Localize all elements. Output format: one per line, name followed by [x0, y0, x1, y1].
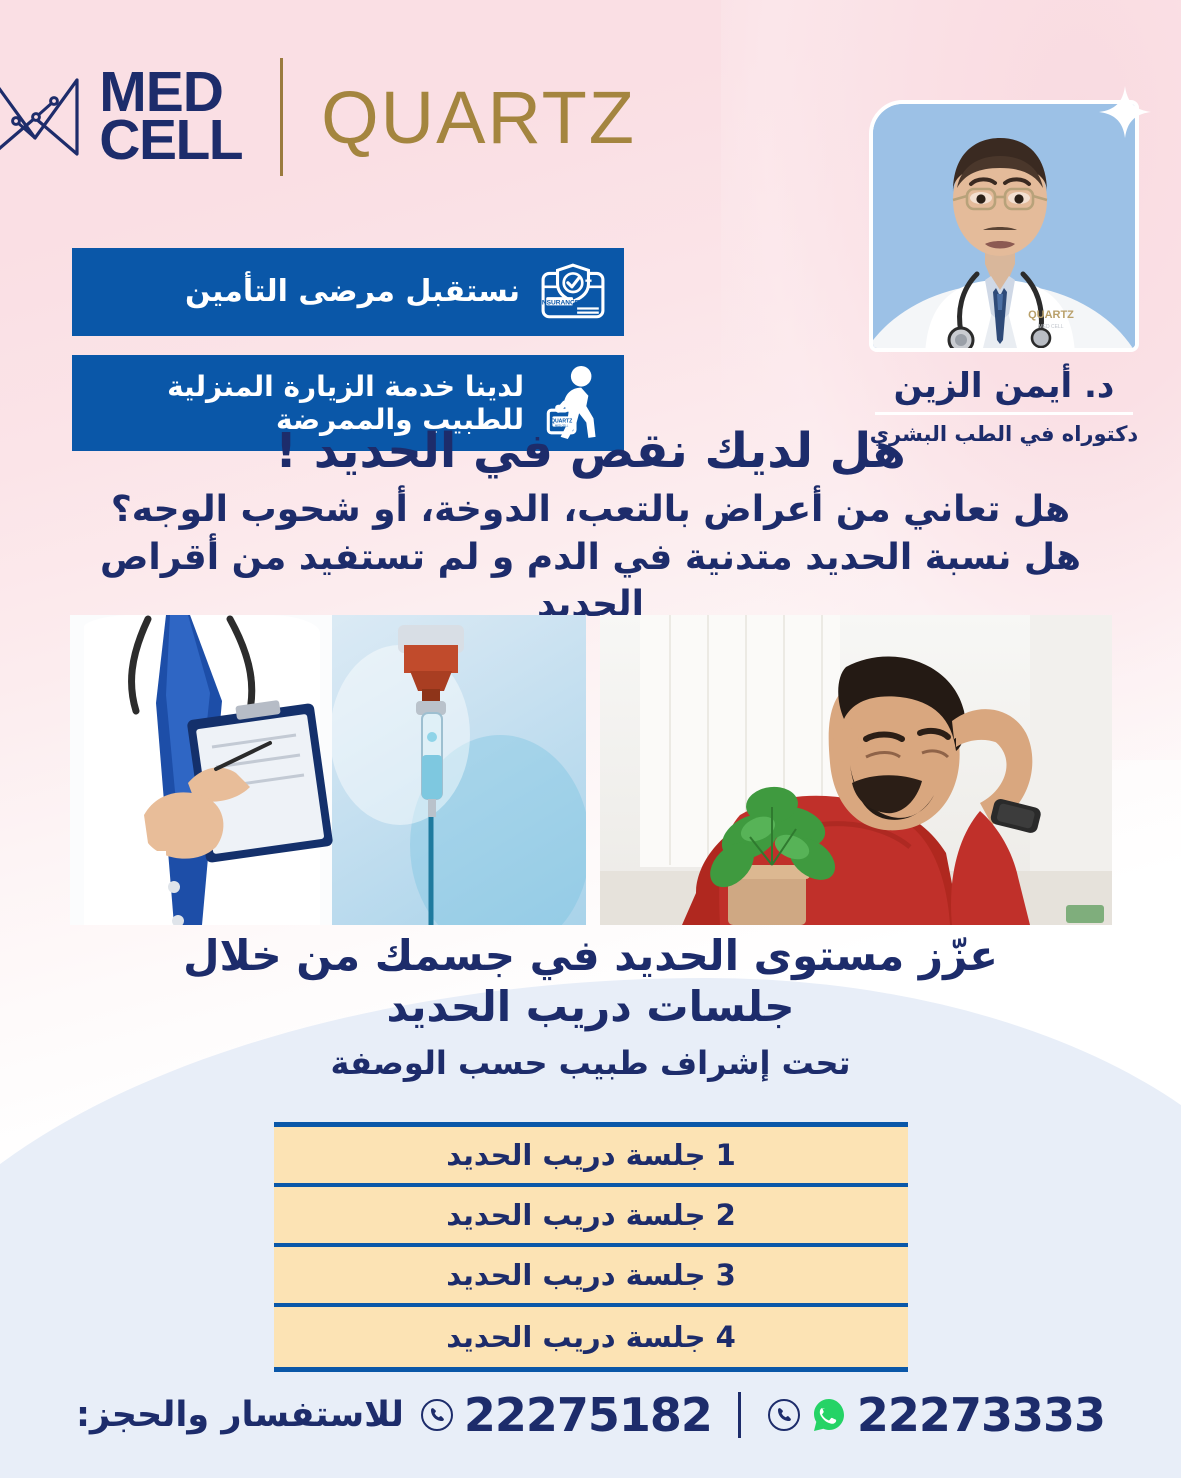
cta-block: عزّز مستوى الحديد في جسمك من خلال جلسات … [0, 930, 1181, 1082]
footer-separator [738, 1392, 741, 1438]
phone-circle-icon [420, 1398, 454, 1432]
insurance-card-icon: INSURANCE [540, 259, 606, 325]
doctor-portrait-illustration: QUARTZ MED CELL [869, 104, 1135, 352]
poster-canvas: QUARTZ MED CELL [0, 0, 1181, 1478]
session-row[interactable]: 3 جلسة دريب الحديد [274, 1247, 908, 1307]
doctor-clipboard-iv-illustration [70, 615, 586, 925]
badge-insurance-label: نستقبل مرضى التأمين [90, 274, 526, 309]
phone-circle-icon [767, 1398, 801, 1432]
doctor-divider [875, 412, 1133, 415]
sessions-table: 1 جلسة دريب الحديد 2 جلسة دريب الحديد 3 … [274, 1122, 908, 1372]
logo-divider [280, 58, 283, 176]
phone-primary-group[interactable]: 22275182 [420, 1388, 712, 1442]
photo-strip [70, 615, 1112, 925]
logo-cell-text: CELL [99, 117, 242, 165]
svg-text:QUARTZ: QUARTZ [1028, 309, 1074, 321]
svg-text:MED CELL: MED CELL [1038, 324, 1063, 330]
quartz-wordmark: QUARTZ [321, 75, 636, 160]
medcell-mark-icon [0, 74, 83, 160]
headline-block: هل لديك نقص في الحديد ! هل تعاني من أعرا… [0, 424, 1181, 629]
cta-line-2: جلسات دريب الحديد [66, 981, 1115, 1032]
brand-logo[interactable]: QUARTZ MED CELL [0, 58, 636, 176]
session-row[interactable]: 2 جلسة دريب الحديد [274, 1187, 908, 1247]
headline-sub-1: هل تعاني من أعراض بالتعب، الدوخة، أو شحو… [42, 487, 1139, 534]
doctor-name: د. أيمن الزين [869, 368, 1139, 405]
medcell-wordmark: MED CELL [99, 69, 242, 165]
photo-doctor-iv [70, 615, 586, 925]
session-label: 2 جلسة دريب الحديد [446, 1198, 736, 1232]
phone-secondary-group[interactable]: 22273333 [767, 1388, 1105, 1442]
header-row: QUARTZ MED CELL [0, 50, 1181, 410]
doctor-card: QUARTZ MED CELL د. أيمن الزين دكتوراه في… [869, 100, 1139, 446]
session-row[interactable]: 1 جلسة دريب الحديد [274, 1127, 908, 1187]
sparkle-icon [1097, 84, 1153, 140]
badge-insurance[interactable]: INSURANCE نستقبل مرضى التأمين [72, 248, 624, 336]
cta-subtext: تحت إشراف طبيب حسب الوصفة [66, 1044, 1115, 1082]
photo-tired-man [600, 615, 1112, 925]
footer-contact: للاستفسار والحجز: 22275182 22273333 [0, 1388, 1181, 1442]
session-label: 4 جلسة دريب الحديد [446, 1320, 736, 1354]
whatsapp-icon [811, 1397, 847, 1433]
svg-text:INSURANCE: INSURANCE [540, 299, 580, 306]
cta-line-1: عزّز مستوى الحديد في جسمك من خلال [66, 930, 1115, 981]
doctor-photo-wrap: QUARTZ MED CELL [869, 100, 1139, 352]
phone-primary: 22275182 [464, 1388, 712, 1442]
phone-secondary: 22273333 [857, 1388, 1105, 1442]
tired-man-illustration [600, 615, 1112, 925]
session-label: 1 جلسة دريب الحديد [446, 1138, 736, 1172]
session-label: 3 جلسة دريب الحديد [446, 1258, 736, 1292]
session-row[interactable]: 4 جلسة دريب الحديد [274, 1307, 908, 1367]
headline-main: هل لديك نقص في الحديد ! [42, 424, 1139, 480]
footer-label: للاستفسار والحجز: [76, 1395, 404, 1435]
